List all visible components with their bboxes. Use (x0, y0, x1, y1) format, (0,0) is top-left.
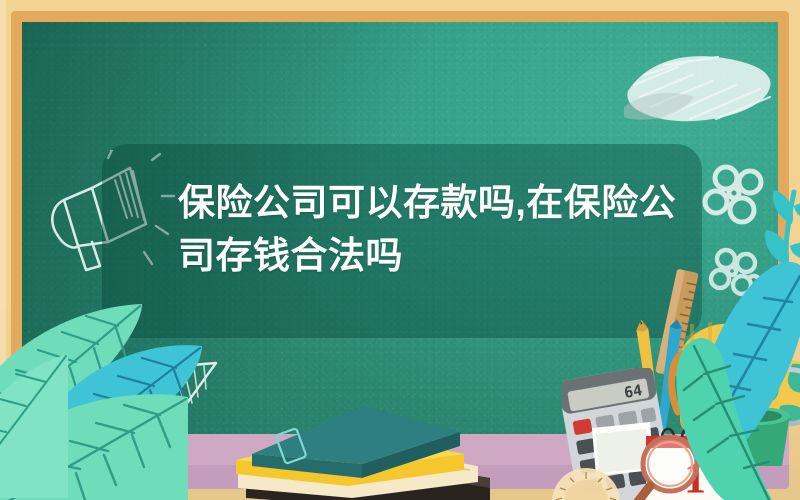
desk-band-pink-shadow (11, 465, 789, 489)
page-title: 保险公司可以存款吗,在保险公司存钱合法吗 (178, 176, 698, 282)
cover-banner: 保险公司可以存款吗,在保险公司存钱合法吗 (0, 0, 800, 500)
